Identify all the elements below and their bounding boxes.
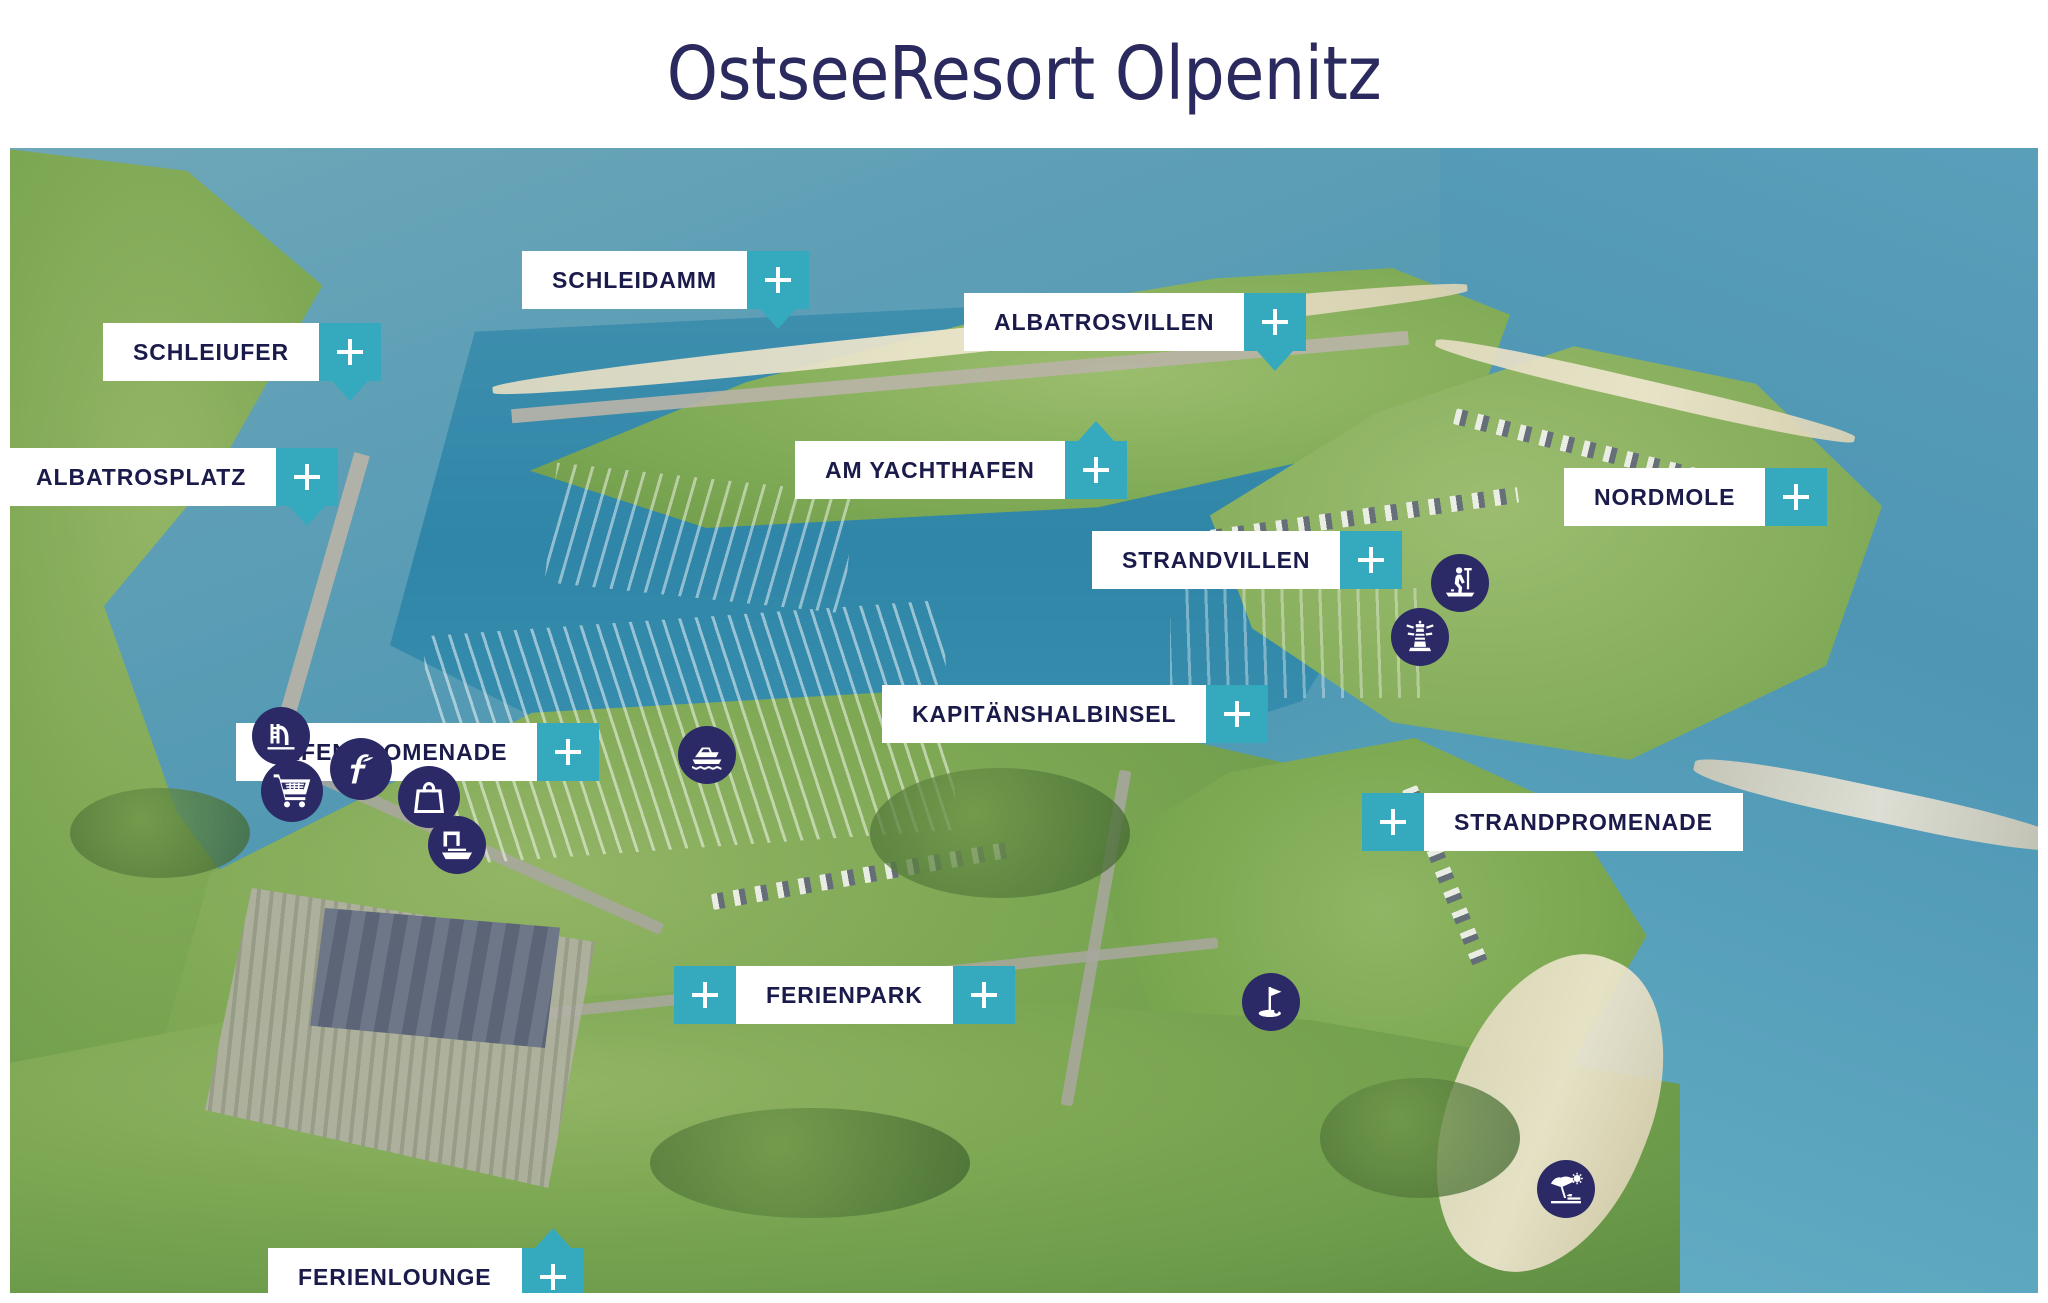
hotspot-plus-button[interactable] — [1362, 793, 1424, 851]
hotspot-plus-button[interactable] — [1065, 441, 1127, 499]
hotspot-label: SCHLEIDAMM — [522, 251, 747, 309]
hotspot-label: ALBATROSPLATZ — [10, 448, 276, 506]
hotspot-plus-button[interactable] — [747, 251, 809, 309]
hotspot-pointer — [332, 381, 368, 401]
hotspot-nordmole[interactable]: NORDMOLE — [1564, 468, 1827, 526]
page-title: OstseeResort Olpenitz — [667, 31, 1382, 117]
hotspot-schleidamm[interactable]: SCHLEIDAMM — [522, 251, 809, 309]
hotspot-plus-button[interactable] — [522, 1248, 584, 1293]
hotspot-label: SCHLEIUFER — [103, 323, 319, 381]
boat-crane-icon[interactable] — [428, 816, 486, 874]
hotspot-plus-button[interactable] — [1340, 531, 1402, 589]
hotspot-plus-button[interactable] — [1765, 468, 1827, 526]
hotspot-ferienlounge[interactable]: FERIENLOUNGE — [268, 1248, 584, 1293]
hotspot-label: FERIENLOUNGE — [268, 1248, 522, 1293]
page-header: OstseeResort Olpenitz — [0, 0, 2048, 148]
hotspot-pointer — [760, 309, 796, 329]
hotspot-label: KAPITÄNSHALBINSEL — [882, 685, 1206, 743]
water-slide-icon[interactable] — [252, 707, 310, 765]
hotspot-label: ALBATROSVILLEN — [964, 293, 1244, 351]
hotspot-am-yachthafen[interactable]: AM YACHTHAFEN — [795, 441, 1127, 499]
map-vegetation-4 — [1320, 1078, 1520, 1198]
hotspot-label: STRANDVILLEN — [1092, 531, 1340, 589]
resort-map-page: OstseeResort Olpenitz — [0, 0, 2048, 1303]
beach-umbrella-icon[interactable] — [1537, 1160, 1595, 1218]
hotspot-plus-button[interactable] — [1244, 293, 1306, 351]
golf-icon[interactable] — [1242, 973, 1300, 1031]
hotspot-ferienpark[interactable]: FERIENPARK — [674, 966, 1015, 1024]
hotspot-label: STRANDPROMENADE — [1424, 793, 1743, 851]
map-vegetation-3 — [650, 1108, 970, 1218]
hotspot-strandvillen[interactable]: STRANDVILLEN — [1092, 531, 1402, 589]
hotspot-pointer — [535, 1228, 571, 1248]
resort-aerial-map[interactable]: SCHLEIDAMM ALBATROSVILLEN SCHLEIUFER ALB… — [10, 148, 2038, 1293]
paddleboard-icon[interactable] — [1431, 554, 1489, 612]
hotspot-plus-button[interactable] — [1206, 685, 1268, 743]
hotspot-plus-button-right[interactable] — [953, 966, 1015, 1024]
shopping-cart-icon[interactable] — [261, 760, 323, 822]
hotspot-label: NORDMOLE — [1564, 468, 1765, 526]
hotspot-plus-button[interactable] — [319, 323, 381, 381]
hotspot-label: AM YACHTHAFEN — [795, 441, 1065, 499]
lighthouse-icon[interactable] — [1391, 608, 1449, 666]
hotspot-pointer — [289, 506, 325, 526]
map-vegetation-2 — [870, 768, 1130, 898]
hotspot-pointer — [1078, 421, 1114, 441]
hotspot-albatrosplatz[interactable]: ALBATROSPLATZ — [10, 448, 338, 506]
map-vegetation-1 — [70, 788, 250, 878]
hotspot-label: FERIENPARK — [736, 966, 953, 1024]
motorboat-icon[interactable] — [678, 726, 736, 784]
f-logo-icon[interactable] — [330, 738, 392, 800]
map-large-buildings — [310, 908, 560, 1048]
hotspot-strandpromenade[interactable]: STRANDPROMENADE — [1362, 793, 1743, 851]
hotspot-pointer — [1257, 351, 1293, 371]
hotspot-plus-button[interactable] — [276, 448, 338, 506]
hotspot-kapitaenshalbinsel[interactable]: KAPITÄNSHALBINSEL — [882, 685, 1268, 743]
hotspot-schleiufer[interactable]: SCHLEIUFER — [103, 323, 381, 381]
hotspot-plus-button-left[interactable] — [674, 966, 736, 1024]
hotspot-albatrosvillen[interactable]: ALBATROSVILLEN — [964, 293, 1306, 351]
hotspot-plus-button[interactable] — [537, 723, 599, 781]
